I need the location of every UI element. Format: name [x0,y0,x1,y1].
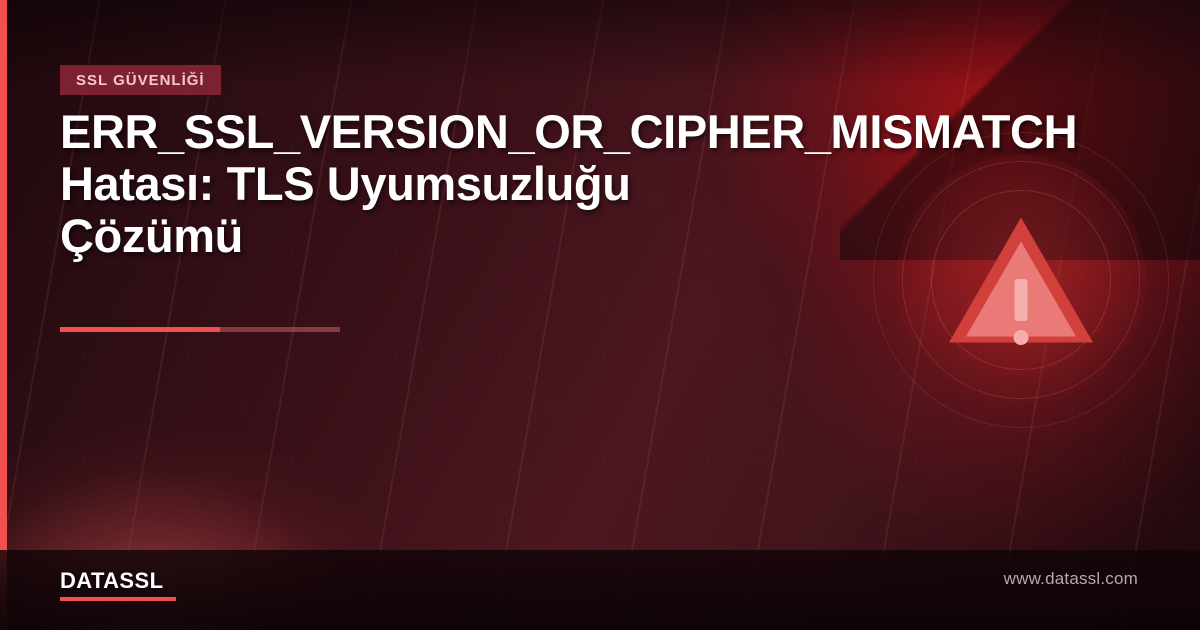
site-url: www.datassl.com [1004,569,1138,589]
accent-divider-primary [60,327,220,332]
warning-icon-group [871,130,1171,430]
social-share-card: SSL GÜVENLİĞİ ERR_SSL_VERSION_OR_CIPHER_… [0,0,1200,630]
brand-underline [60,597,176,601]
accent-divider-secondary [220,327,340,332]
exclamation-bar-icon [1015,279,1028,321]
category-badge: SSL GÜVENLİĞİ [60,65,221,95]
left-accent-stripe [0,0,7,630]
brand-name: DATASSL [60,568,163,594]
footer-band [0,550,1200,630]
accent-divider [60,327,340,332]
exclamation-dot-icon [1014,330,1029,345]
